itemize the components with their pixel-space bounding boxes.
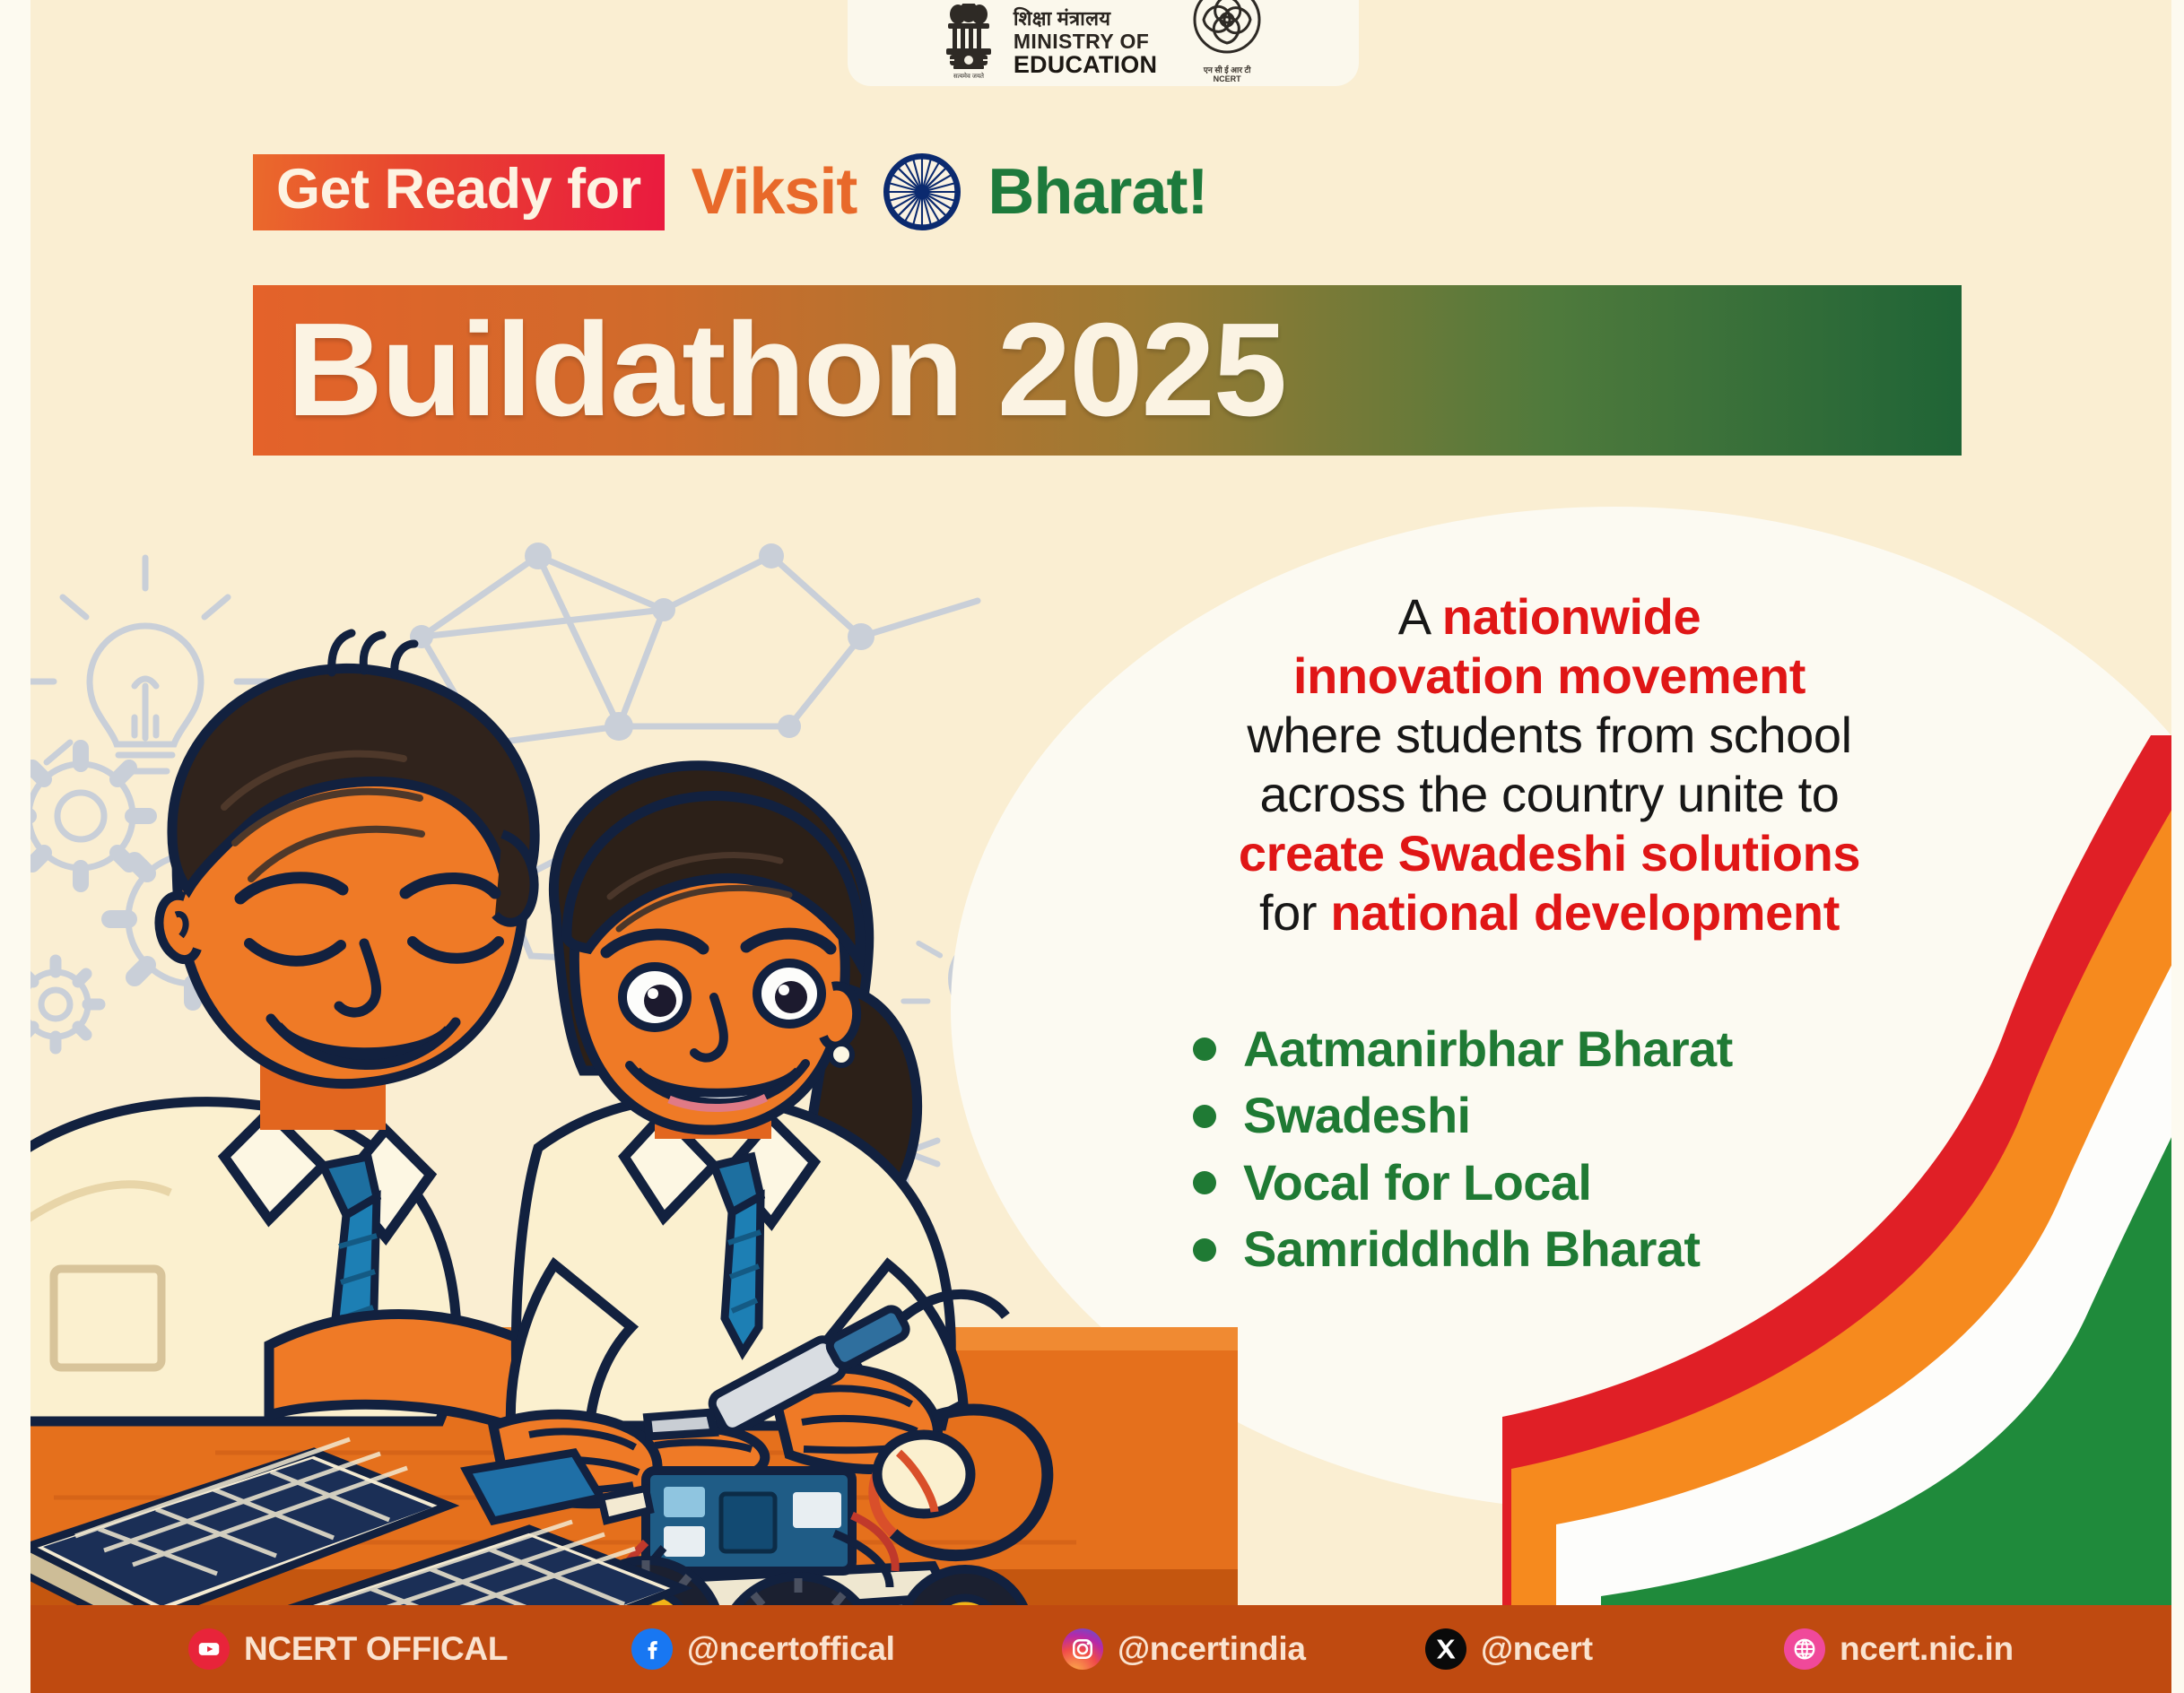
ministry-name-line2: EDUCATION [1014, 53, 1157, 77]
headline-viksit: Viksit [692, 160, 857, 224]
description-paragraph: A nationwideinnovation movementwhere stu… [1027, 587, 2072, 942]
instagram-icon[interactable] [1062, 1628, 1103, 1670]
bullet-dot-icon [1193, 1171, 1216, 1194]
ncert-tag-abbrev: NCERT [1214, 74, 1241, 83]
description-line: across the country unite to [1027, 765, 2072, 824]
social-handle-label: @ncert [1481, 1630, 1593, 1668]
theme-bullet-label: Vocal for Local [1243, 1156, 1591, 1210]
headline-row: Get Ready for Viksit [253, 145, 1957, 239]
description-line: A nationwide [1027, 587, 2072, 647]
theme-bullet-item: Aatmanirbhar Bharat [1193, 1022, 1733, 1076]
social-link-instagram[interactable]: @ncertindia [1062, 1628, 1306, 1670]
description-text: A [1398, 588, 1442, 645]
india-state-emblem-icon: सत्यमेव जयते [936, 4, 1001, 81]
bullet-dot-icon [1193, 1038, 1216, 1061]
headline-bharat: Bharat! [988, 160, 1207, 224]
page-edge-left [0, 0, 30, 1693]
description-line: innovation movement [1027, 647, 2072, 706]
ministry-logo-panel: सत्यमेव जयते शिक्षा मंत्रालय MINISTRY OF… [848, 0, 1359, 86]
page-edge-right [2171, 0, 2184, 1693]
social-link-x-twitter[interactable]: @ncert [1425, 1628, 1593, 1670]
social-link-youtube[interactable]: NCERT OFFICAL [188, 1628, 508, 1670]
x-twitter-icon[interactable] [1425, 1628, 1466, 1670]
theme-bullet-item: Vocal for Local [1193, 1156, 1733, 1210]
ashoka-chakra-icon [883, 153, 961, 230]
description-highlight: create Swadeshi solutions [1239, 825, 1860, 881]
poster-canvas: सत्यमेव जयते शिक्षा मंत्रालय MINISTRY OF… [0, 0, 2184, 1693]
ministry-of-education-logo: सत्यमेव जयते शिक्षा मंत्रालय MINISTRY OF… [936, 4, 1157, 81]
ncert-logo-icon: एन सी ई आर टी NCERT [1184, 0, 1270, 81]
theme-bullet-list: Aatmanirbhar BharatSwadeshiVocal for Loc… [1193, 1022, 1733, 1289]
description-highlight: innovation movement [1293, 647, 1805, 704]
social-link-facebook[interactable]: @ncertoffical [631, 1628, 895, 1670]
description-text: where students from school [1247, 707, 1851, 763]
social-link-website[interactable]: ncert.nic.in [1784, 1628, 2014, 1670]
bullet-dot-icon [1193, 1105, 1216, 1128]
theme-bullet-label: Samriddhdh Bharat [1243, 1222, 1700, 1276]
ncert-tagline: एन सी ई आर टी NCERT [1184, 65, 1270, 84]
youtube-icon[interactable] [188, 1628, 230, 1670]
ministry-name-hindi: शिक्षा मंत्रालय [1014, 9, 1157, 29]
description-line: create Swadeshi solutions [1027, 824, 2072, 883]
description-highlight: nationwide [1442, 588, 1701, 645]
event-title: Buildathon 2025 [287, 304, 1285, 437]
description-highlight: national development [1330, 884, 1840, 941]
bullet-dot-icon [1193, 1238, 1216, 1262]
social-handle-label: @ncertindia [1118, 1630, 1306, 1668]
facebook-icon[interactable] [631, 1628, 673, 1670]
social-footer-bar: NCERT OFFICAL@ncertoffical@ncertindia@nc… [30, 1605, 2171, 1693]
get-ready-badge: Get Ready for [253, 154, 665, 230]
social-handle-label: NCERT OFFICAL [244, 1630, 508, 1668]
theme-bullet-label: Swadeshi [1243, 1089, 1471, 1142]
event-title-band: Buildathon 2025 [253, 285, 1962, 456]
ncert-tag-hindi: एन सी ई आर टी [1204, 65, 1251, 74]
website-icon[interactable] [1784, 1628, 1825, 1670]
description-text: across the country unite to [1260, 766, 1840, 822]
description-text: for [1259, 884, 1330, 941]
theme-bullet-item: Samriddhdh Bharat [1193, 1222, 1733, 1276]
description-line: where students from school [1027, 706, 2072, 765]
svg-text:सत्यमेव जयते: सत्यमेव जयते [953, 72, 985, 80]
theme-bullet-label: Aatmanirbhar Bharat [1243, 1022, 1733, 1076]
theme-bullet-item: Swadeshi [1193, 1089, 1733, 1142]
description-line: for national development [1027, 883, 2072, 942]
ministry-name-line1: MINISTRY OF [1014, 31, 1157, 52]
social-handle-label: ncert.nic.in [1840, 1630, 2014, 1668]
social-handle-label: @ncertoffical [687, 1630, 895, 1668]
